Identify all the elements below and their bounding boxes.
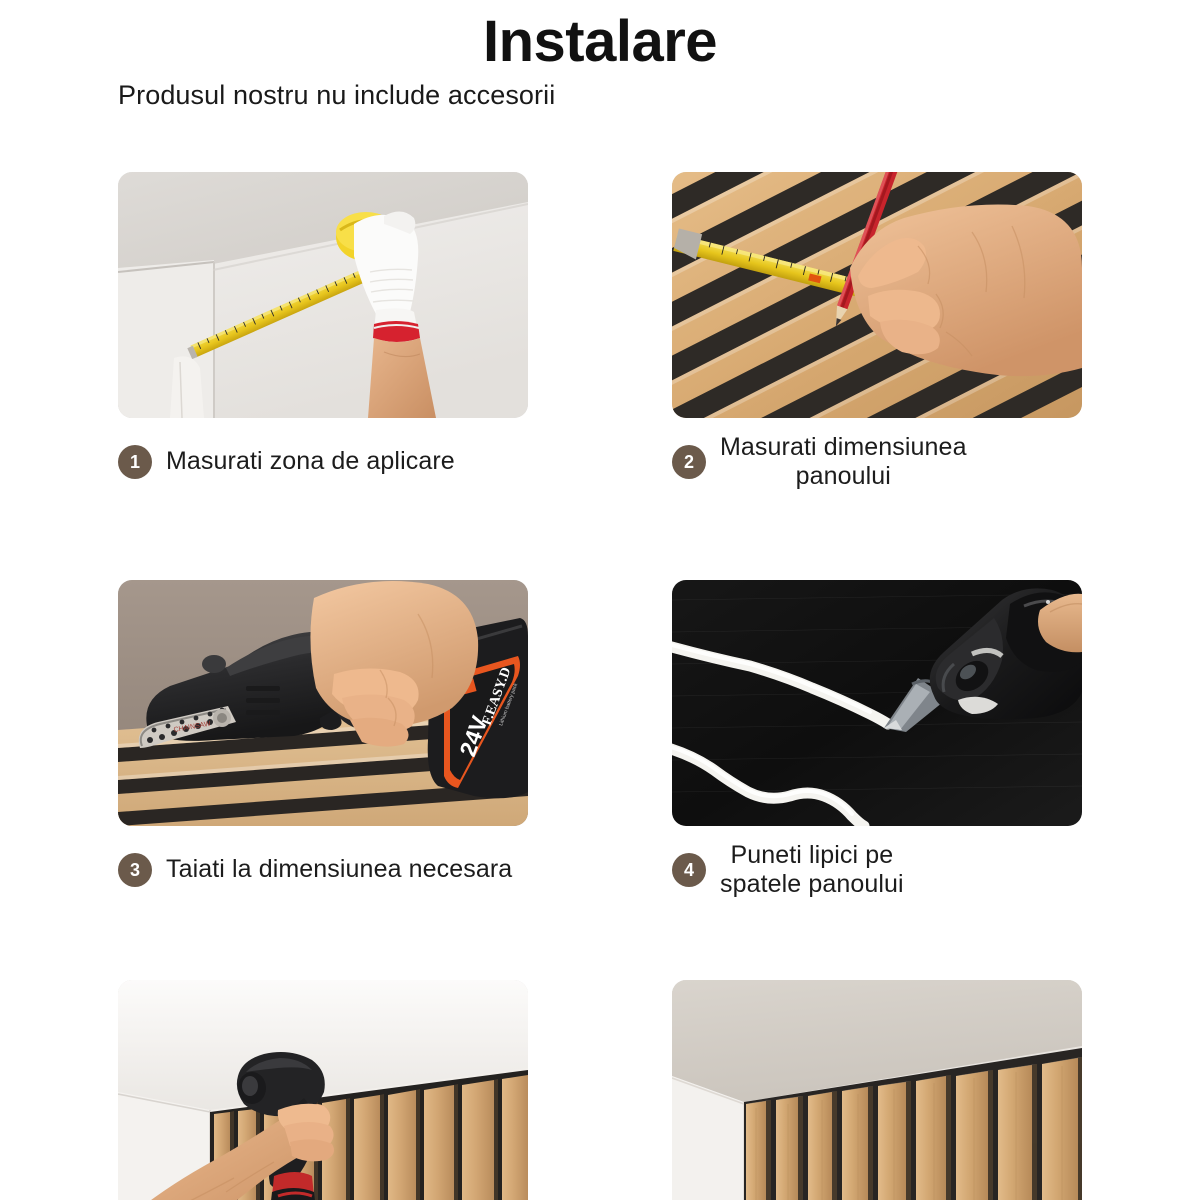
step-caption-line-2: panoului (720, 462, 967, 492)
step-card-4: 4 Puneti lipici pe spatele panoului (672, 580, 1082, 900)
steps-grid: 1 Masurati zona de aplicare (118, 172, 1082, 1200)
step-card-5: 5 Folositi suruburi pentru a instala pan… (118, 980, 528, 1200)
step-caption-text-4: Puneti lipici pe spatele panoului (720, 841, 904, 900)
steps-row-2: CHAINSAW (118, 580, 1082, 900)
step-number-badge-4: 4 (672, 853, 706, 887)
steps-row-3: 5 Folositi suruburi pentru a instala pan… (118, 980, 1082, 1200)
cut-panel-photo: CHAINSAW (118, 580, 528, 826)
finished-wall-photo (672, 980, 1082, 1200)
screw-panels-photo (118, 980, 528, 1200)
page-subtitle: Produsul nostru nu include accesorii (118, 80, 555, 111)
step-caption-3: 3 Taiati la dimensiunea necesara (118, 840, 528, 900)
step-caption-text-3: Taiati la dimensiunea necesara (166, 855, 512, 885)
step-caption-1: 1 Masurati zona de aplicare (118, 432, 528, 492)
step-caption-text-1: Masurati zona de aplicare (166, 447, 455, 477)
step-caption-line-1: Masurati dimensiunea (720, 433, 967, 463)
step-caption-4: 4 Puneti lipici pe spatele panoului (672, 840, 1082, 900)
apply-glue-photo (672, 580, 1082, 826)
installation-guide-page: Instalare Produsul nostru nu include acc… (0, 0, 1200, 1200)
step-number-badge-2: 2 (672, 445, 706, 479)
steps-row-1: 1 Masurati zona de aplicare (118, 172, 1082, 492)
step-card-1: 1 Masurati zona de aplicare (118, 172, 528, 492)
step-caption-2: 2 Masurati dimensiunea panoului (672, 432, 1082, 492)
step-caption-line-1: Puneti lipici pe (720, 841, 904, 871)
measure-wall-area-photo (118, 172, 528, 418)
step-caption-line-2: spatele panoului (720, 870, 904, 900)
measure-panel-photo (672, 172, 1082, 418)
page-title: Instalare (0, 10, 1200, 74)
step-number-badge-1: 1 (118, 445, 152, 479)
step-card-6: 6 Finalizati instalarea (672, 980, 1082, 1200)
step-card-2: 2 Masurati dimensiunea panoului (672, 172, 1082, 492)
step-number-badge-3: 3 (118, 853, 152, 887)
step-card-3: CHAINSAW (118, 580, 528, 900)
step-caption-text-2: Masurati dimensiunea panoului (720, 433, 967, 492)
